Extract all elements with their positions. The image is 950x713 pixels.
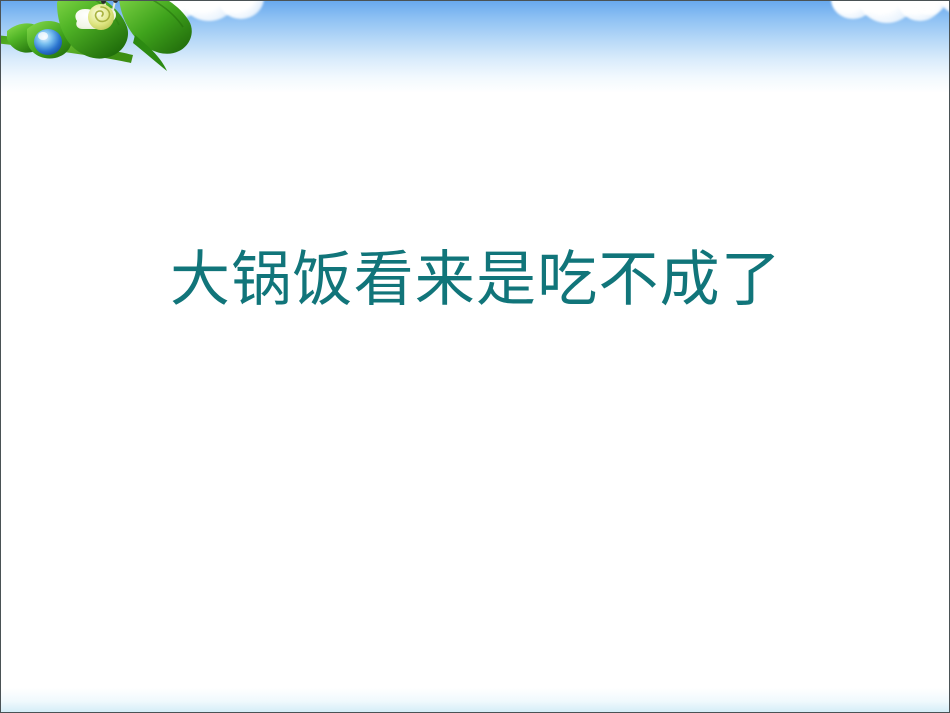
leaf-shape-right (119, 1, 192, 54)
slide-canvas: 大锅饭看来是吃不成了 (0, 0, 950, 713)
water-droplet (34, 29, 62, 55)
snail-shell (88, 4, 114, 30)
slide-title: 大锅饭看来是吃不成了 (170, 247, 782, 313)
title-block: 大锅饭看来是吃不成了 (1, 247, 950, 313)
leaf-stem-snail-decoration (1, 1, 241, 73)
bottom-gradient-wash (1, 688, 949, 712)
droplet-highlight (38, 32, 48, 40)
